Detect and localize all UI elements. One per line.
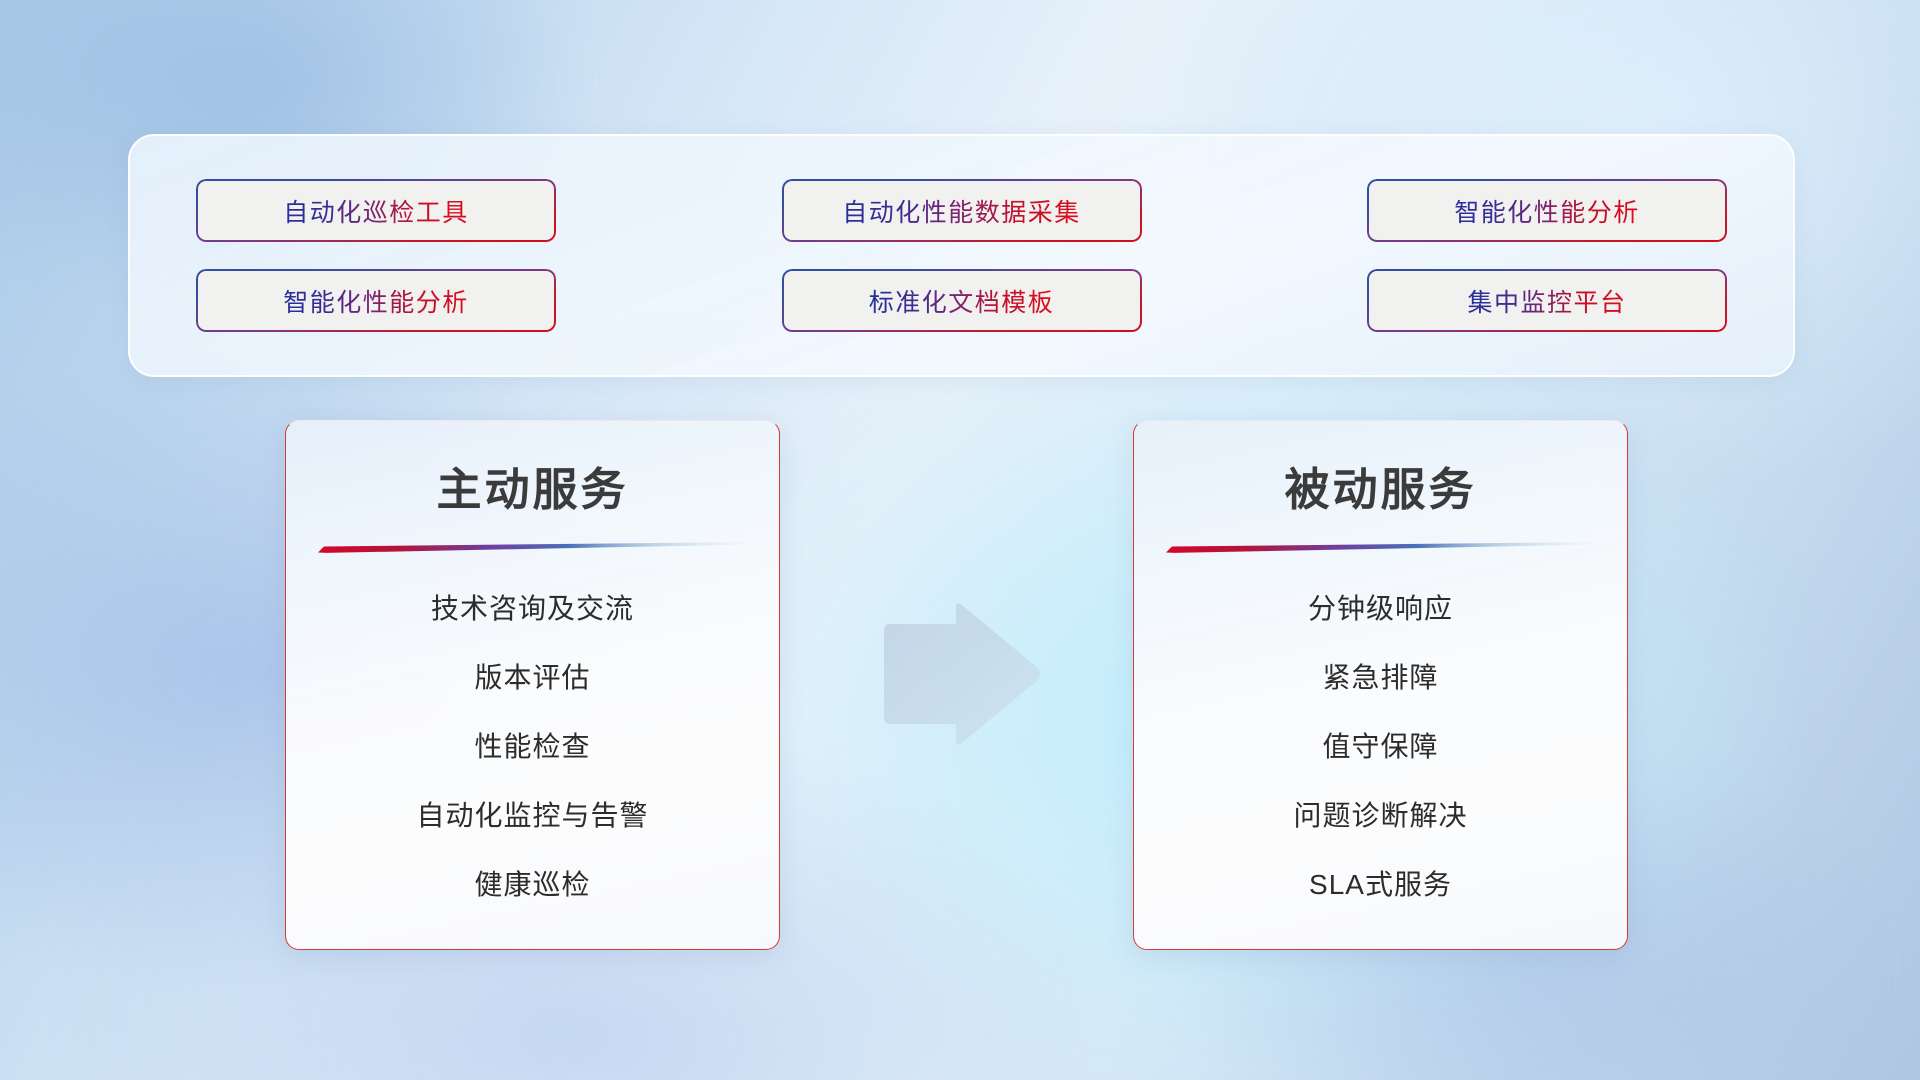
capabilities-panel: 自动化巡检工具 自动化性能数据采集 智能化性能分析 智能化性能分析 标准化文档模…	[128, 134, 1795, 377]
capability-chip-label: 智能化性能分析	[1454, 193, 1640, 229]
card-list-item[interactable]: SLA式服务	[1134, 863, 1627, 903]
card-list-item[interactable]: 分钟级响应	[1134, 587, 1627, 627]
card-list-item[interactable]: 性能检查	[286, 725, 779, 765]
card-list-item[interactable]: 值守保障	[1134, 725, 1627, 765]
card-list-item[interactable]: 紧急排障	[1134, 656, 1627, 696]
card-item-list: 技术咨询及交流 版本评估 性能检查 自动化监控与告警 健康巡检	[286, 587, 779, 903]
service-card-proactive: 主动服务 技术咨询及交流 版本评估 性能检查 自动化监控与告警 健康巡检	[285, 420, 780, 950]
card-list-item[interactable]: 问题诊断解决	[1134, 794, 1627, 834]
capability-chip[interactable]: 自动化巡检工具	[196, 179, 556, 242]
capability-chip-label: 自动化性能数据采集	[842, 193, 1081, 229]
capability-chip-label: 集中监控平台	[1467, 283, 1626, 319]
card-divider	[1166, 542, 1596, 553]
capability-chip-label: 智能化性能分析	[283, 283, 469, 319]
capability-row-1: 自动化巡检工具 自动化性能数据采集 智能化性能分析	[196, 179, 1727, 242]
capability-chip[interactable]: 集中监控平台	[1367, 269, 1727, 332]
right-arrow-icon	[880, 600, 1045, 748]
card-list-item[interactable]: 技术咨询及交流	[286, 587, 779, 627]
capability-chip-label: 标准化文档模板	[869, 283, 1055, 319]
capability-row-2: 智能化性能分析 标准化文档模板 集中监控平台	[196, 269, 1727, 332]
card-title: 被动服务	[1134, 453, 1627, 518]
card-list-item[interactable]: 健康巡检	[286, 863, 779, 903]
card-list-item[interactable]: 自动化监控与告警	[286, 794, 779, 834]
card-list-item[interactable]: 版本评估	[286, 656, 779, 696]
capability-chip[interactable]: 智能化性能分析	[196, 269, 556, 332]
card-divider	[318, 542, 748, 553]
card-title: 主动服务	[286, 453, 779, 518]
capability-chip[interactable]: 标准化文档模板	[782, 269, 1142, 332]
capability-chip-label: 自动化巡检工具	[283, 193, 469, 229]
service-card-reactive: 被动服务 分钟级响应 紧急排障 值守保障 问题诊断解决 SLA式服务	[1133, 420, 1628, 950]
card-item-list: 分钟级响应 紧急排障 值守保障 问题诊断解决 SLA式服务	[1134, 587, 1627, 903]
capability-chip[interactable]: 自动化性能数据采集	[782, 179, 1142, 242]
capability-chip[interactable]: 智能化性能分析	[1367, 179, 1727, 242]
